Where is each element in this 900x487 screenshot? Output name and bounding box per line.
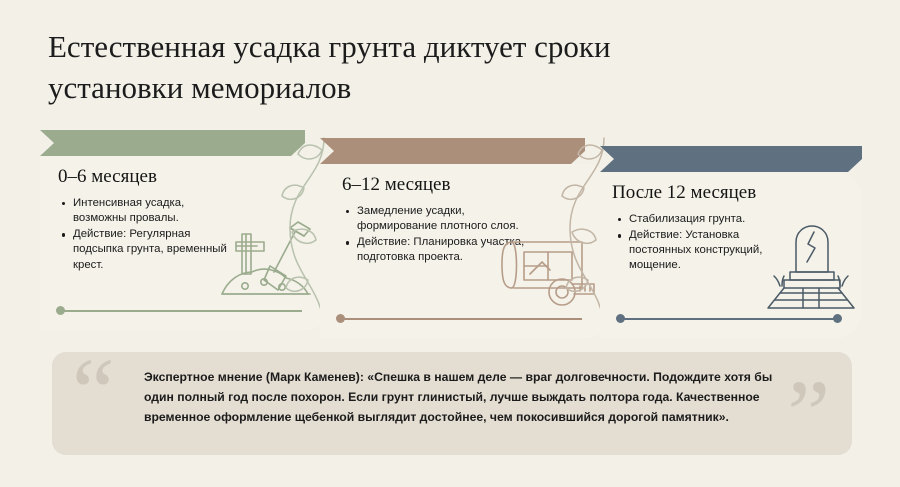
stage-1-timeline-line xyxy=(60,310,302,312)
stage-3-timeline-bar xyxy=(616,314,842,324)
list-item: Замедление усадки, формирование плотного… xyxy=(344,204,540,234)
page-title-line-2: установки мемориалов xyxy=(48,67,788,108)
stage-1-timeline-dot-start xyxy=(56,306,65,315)
cross-and-shovel-icon xyxy=(212,220,322,302)
timeline-stage-1[interactable]: 0–6 месяцев Интенсивная усадка, возможны… xyxy=(40,130,332,330)
stage-2-heading: 6–12 месяцев xyxy=(342,174,450,196)
stage-2-banner xyxy=(320,138,585,164)
stage-1-heading: 0–6 месяцев xyxy=(58,166,157,188)
stage-3-heading: После 12 месяцев xyxy=(612,182,756,204)
stage-3-timeline-line xyxy=(620,318,838,320)
page-title-line-1: Естественная усадка грунта диктует сроки xyxy=(48,26,788,67)
stage-1-timeline-bar xyxy=(56,306,306,316)
blueprint-and-tape-measure-icon xyxy=(498,234,604,310)
quote-open-mark: “ xyxy=(72,336,115,447)
stage-3-timeline-dot-end xyxy=(833,314,842,323)
gravestone-monument-icon xyxy=(758,224,862,310)
stage-2-timeline-dot-start xyxy=(336,314,345,323)
expert-quote-box: “ ” Экспертное мнение (Марк Каменев): «С… xyxy=(52,352,852,455)
timeline-stages: 0–6 месяцев Интенсивная усадка, возможны… xyxy=(0,130,900,330)
stage-1-banner xyxy=(40,130,305,156)
infographic-root: Естественная усадка грунта диктует сроки… xyxy=(0,0,900,487)
timeline-stage-3[interactable]: После 12 месяцев Стабилизация грунта. Де… xyxy=(600,146,862,346)
stage-2-timeline-bar xyxy=(336,314,586,324)
stage-3-banner xyxy=(600,146,862,172)
stage-2-timeline-line xyxy=(340,318,582,320)
page-title: Естественная усадка грунта диктует сроки… xyxy=(48,26,788,108)
timeline-stage-2[interactable]: 6–12 месяцев Замедление усадки, формиров… xyxy=(320,138,612,338)
quote-text: Экспертное мнение (Марк Каменев): «Спешк… xyxy=(144,368,804,427)
stage-3-timeline-dot-start xyxy=(616,314,625,323)
